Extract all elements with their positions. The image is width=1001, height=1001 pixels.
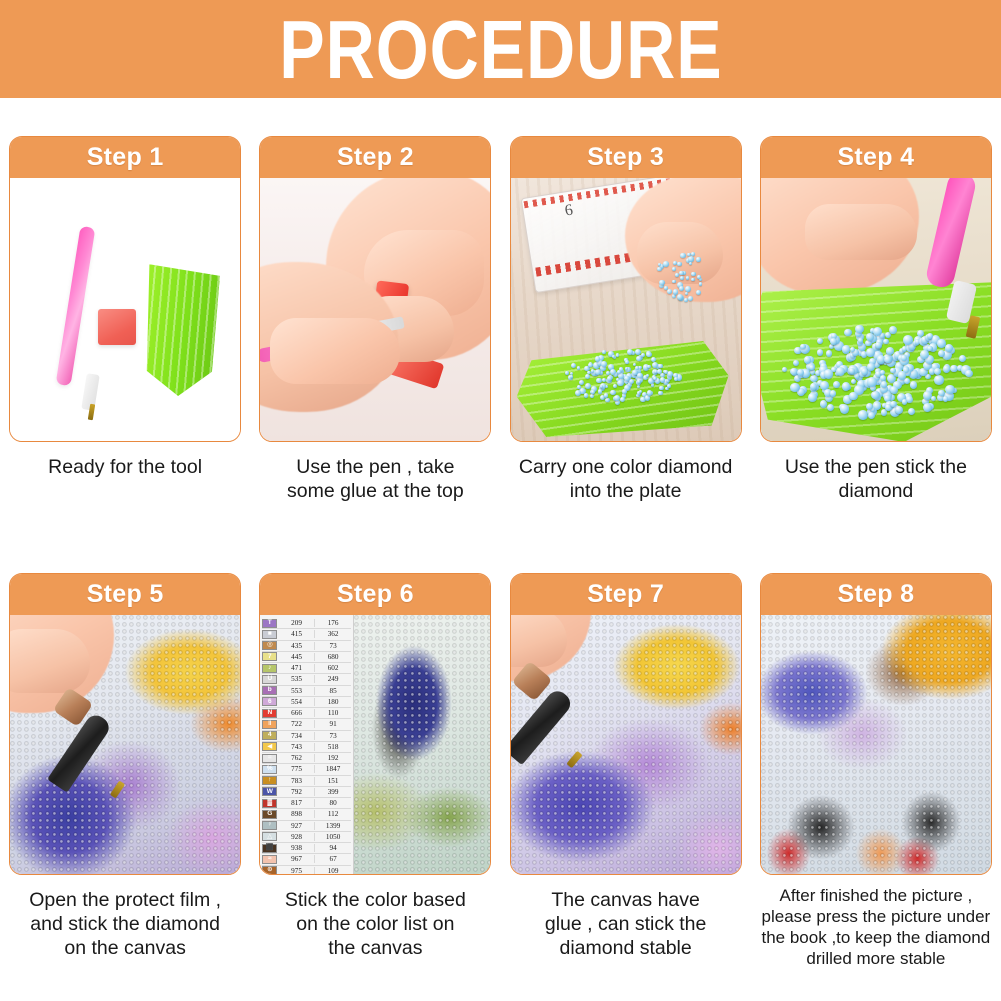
blue-diamond: [658, 364, 663, 369]
color-count: 91: [315, 720, 352, 728]
color-count: 180: [315, 698, 352, 706]
step-6-image: T209176■415362◎435737445680♪471602U53524…: [260, 615, 490, 874]
blue-diamond: [866, 403, 873, 410]
color-code: 967: [279, 855, 315, 863]
color-swatch-symbol: ♪: [262, 664, 277, 673]
color-swatch-symbol: N: [262, 709, 277, 718]
color-count: 151: [315, 777, 352, 785]
color-count: 518: [315, 743, 352, 751]
blue-diamond: [686, 276, 689, 279]
caption-line: The canvas have: [507, 888, 745, 912]
step-2-header: Step 2: [260, 137, 490, 178]
color-list-row: △9281050: [262, 832, 351, 843]
caption-line: please press the picture under: [753, 906, 999, 927]
color-code: 938: [279, 844, 315, 852]
caption-line: drilled more stable: [753, 948, 999, 969]
color-list-row: ■415362: [262, 629, 351, 640]
blue-diamond: [804, 356, 811, 363]
color-list-row: ≈96767: [262, 854, 351, 865]
step-card-8: Step 8 After finished the picture , plea…: [751, 573, 1001, 969]
caption-line: some glue at the top: [256, 479, 494, 503]
step-2-image: [260, 178, 490, 441]
color-count: 85: [315, 687, 352, 695]
step-7-header-label: Step 7: [587, 580, 664, 609]
color-swatch-symbol: 4: [262, 731, 277, 740]
caption-line: Stick the color based: [256, 888, 494, 912]
fingers: [10, 629, 90, 693]
blue-diamond: [840, 404, 850, 414]
blue-diamond: [844, 329, 852, 337]
color-swatch-symbol: 6: [262, 697, 277, 706]
step-8-caption: After finished the picture , please pres…: [753, 885, 999, 969]
color-code: 734: [279, 732, 315, 740]
color-code: 535: [279, 675, 315, 683]
color-code: 554: [279, 698, 315, 706]
step-4-card: Step 4: [760, 136, 992, 442]
caption-line: on the color list on: [256, 912, 494, 936]
step-3-card: Step 3 6: [510, 136, 742, 442]
blue-diamond: [849, 368, 855, 374]
page-banner: PROCEDURE: [0, 0, 1001, 98]
color-count: 1050: [315, 833, 352, 841]
blue-diamond: [934, 375, 944, 385]
blue-diamond: [849, 392, 858, 401]
color-swatch-symbol: △: [262, 832, 277, 841]
color-swatch-symbol: %: [262, 765, 277, 774]
caption-line: Use the pen stick the: [757, 455, 995, 479]
caption-line: the canvas: [256, 936, 494, 960]
blue-diamond: [817, 349, 824, 356]
color-code: 743: [279, 743, 315, 751]
step-card-7: Step 7 The canvas have glue , can stick …: [501, 573, 751, 969]
glue-square-icon: [98, 309, 136, 345]
color-code: 928: [279, 833, 315, 841]
step-5-image: [10, 615, 240, 874]
caption-line: the book ,to keep the diamond: [753, 927, 999, 948]
step-2-caption: Use the pen , take some glue at the top: [256, 455, 494, 503]
pen-picks-diamond-illustration: [761, 178, 991, 441]
color-count: 680: [315, 653, 352, 661]
fingers: [511, 615, 567, 667]
color-count: 399: [315, 788, 352, 796]
step-6-header: Step 6: [260, 574, 490, 615]
caption-line: Open the protect film ,: [6, 888, 244, 912]
steps-row-2: Step 5 Open the protect film , and stick…: [0, 573, 1001, 969]
color-list-row: W792399: [262, 787, 351, 798]
color-list-row: 7445680: [262, 652, 351, 663]
left-finger: [270, 318, 400, 384]
color-swatch-symbol: T: [262, 619, 277, 628]
blue-diamond: [883, 339, 889, 345]
glued-canvas-illustration: [511, 615, 741, 874]
blue-diamond: [677, 262, 681, 266]
blue-diamond: [824, 369, 834, 379]
color-swatch-symbol: ■: [262, 630, 277, 639]
color-swatch-symbol: ⊙: [262, 866, 277, 874]
blue-diamond: [598, 389, 603, 394]
blue-diamond: [696, 257, 700, 261]
color-list-row: %7751847: [262, 764, 351, 775]
step-5-caption: Open the protect film , and stick the di…: [6, 888, 244, 960]
blue-diamond: [836, 367, 845, 376]
step-6-header-label: Step 6: [337, 580, 414, 609]
blue-diamond: [866, 333, 874, 341]
color-code: 775: [279, 765, 315, 773]
blue-diamond: [871, 391, 880, 400]
color-count: 1399: [315, 822, 352, 830]
blue-diamond: [793, 360, 799, 366]
blue-diamond: [605, 398, 609, 402]
blue-diamond: [833, 381, 840, 388]
step-card-2: Step 2: [250, 136, 500, 503]
blue-diamond: [945, 344, 953, 352]
color-list-row: ♪471602: [262, 663, 351, 674]
color-list-row: ♀9271399: [262, 821, 351, 832]
color-list-row: U535249: [262, 674, 351, 685]
blue-diamond: [639, 390, 642, 393]
step-card-3: Step 3 6: [501, 136, 751, 503]
color-list-table: T209176■415362◎435737445680♪471602U53524…: [260, 615, 354, 874]
step-3-caption: Carry one color diamond into the plate: [507, 455, 745, 503]
color-count: 67: [315, 855, 352, 863]
color-count: 249: [315, 675, 352, 683]
diamond-canvas: [761, 615, 991, 874]
color-swatch-symbol: ⬛: [262, 844, 277, 853]
blue-diamond: [601, 361, 607, 367]
blue-diamond: [842, 382, 850, 390]
color-swatch-symbol: ♀: [262, 821, 277, 830]
color-count: 80: [315, 799, 352, 807]
blue-diamond: [622, 389, 626, 393]
blue-diamond: [604, 393, 609, 398]
step-5-header-label: Step 5: [87, 580, 164, 609]
blue-diamond: [830, 390, 837, 397]
step-3-header: Step 3: [511, 137, 741, 178]
step-8-header-label: Step 8: [837, 580, 914, 609]
blue-diamond: [647, 365, 650, 368]
color-count: 73: [315, 732, 352, 740]
blue-diamond: [591, 369, 595, 373]
blue-diamond: [657, 267, 661, 271]
step-2-header-label: Step 2: [337, 143, 414, 172]
color-code: 666: [279, 709, 315, 717]
caption-line: into the plate: [507, 479, 745, 503]
steps-row-1: Step 1 Ready for the tool: [0, 136, 1001, 503]
blue-diamond: [867, 363, 875, 371]
step-card-4: Step 4: [751, 136, 1001, 503]
caption-line: Carry one color diamond: [507, 455, 745, 479]
color-count: 73: [315, 642, 352, 650]
color-code: 975: [279, 867, 315, 874]
step-1-header: Step 1: [10, 137, 240, 178]
blue-diamond: [620, 397, 625, 402]
color-code: 898: [279, 810, 315, 818]
color-code: 435: [279, 642, 315, 650]
step-3-image: 6: [511, 178, 741, 441]
blue-diamond: [689, 262, 692, 265]
color-count: 94: [315, 844, 352, 852]
color-swatch-symbol: ‖: [262, 720, 277, 729]
color-code: 817: [279, 799, 315, 807]
blue-diamond: [677, 294, 683, 300]
blue-diamond: [645, 395, 651, 401]
color-list-row: N666110: [262, 708, 351, 719]
color-swatch-symbol: W: [262, 787, 277, 796]
step-3-header-label: Step 3: [587, 143, 664, 172]
color-code: 762: [279, 754, 315, 762]
blue-diamond: [680, 253, 686, 259]
color-list-row: T209176: [262, 618, 351, 629]
blue-diamond: [652, 362, 658, 368]
color-code: 415: [279, 630, 315, 638]
color-list-row: 473473: [262, 731, 351, 742]
color-swatch-symbol: ◀: [262, 742, 277, 751]
color-code: 792: [279, 788, 315, 796]
color-code: 722: [279, 720, 315, 728]
blue-diamond: [641, 353, 645, 357]
step-1-card: Step 1: [9, 136, 241, 442]
color-swatch-symbol: =: [262, 754, 277, 763]
color-count: 192: [315, 754, 352, 762]
color-list-row: =762192: [262, 753, 351, 764]
step-4-header: Step 4: [761, 137, 991, 178]
diamond-canvas: [354, 615, 490, 874]
blue-diamond: [627, 349, 633, 355]
color-count: 110: [315, 709, 352, 717]
blue-diamond: [696, 290, 701, 295]
step-6-card: Step 6 T209176■415362◎435737445680♪47160…: [259, 573, 491, 875]
step-7-image: [511, 615, 741, 874]
blue-diamond: [602, 378, 606, 382]
blue-diamond: [602, 350, 606, 354]
pour-diamonds-illustration: 6: [511, 178, 741, 441]
color-list-row: ↑783151: [262, 776, 351, 787]
step-5-header: Step 5: [10, 574, 240, 615]
color-swatch-symbol: G: [262, 810, 277, 819]
step-4-header-label: Step 4: [837, 143, 914, 172]
color-code: 445: [279, 653, 315, 661]
pink-pen-icon: [56, 226, 96, 386]
color-swatch-symbol: ◎: [262, 641, 277, 650]
step-7-header: Step 7: [511, 574, 741, 615]
color-swatch-symbol: ▓: [262, 799, 277, 808]
blue-diamond: [625, 360, 629, 364]
step-7-caption: The canvas have glue , can stick the dia…: [507, 888, 745, 960]
caption-line: Ready for the tool: [6, 455, 244, 479]
step-1-image: [10, 178, 240, 441]
step-7-card: Step 7: [510, 573, 742, 875]
color-swatch-symbol: U: [262, 675, 277, 684]
blue-diamond: [657, 369, 662, 374]
step-card-5: Step 5 Open the protect film , and stick…: [0, 573, 250, 969]
blue-diamond: [637, 380, 641, 384]
color-list-row: ◎43573: [262, 641, 351, 652]
color-count: 112: [315, 810, 352, 818]
sticking-diamond-illustration: [10, 615, 240, 874]
step-card-6: Step 6 T209176■415362◎435737445680♪47160…: [250, 573, 500, 969]
blue-diamond: [697, 275, 701, 279]
blue-diamond: [672, 280, 675, 283]
color-code: 783: [279, 777, 315, 785]
color-list-row: ⬛93894: [262, 843, 351, 854]
color-swatch-symbol: 7: [262, 652, 277, 661]
blue-diamond: [588, 363, 592, 367]
step-4-image: [761, 178, 991, 441]
color-count: 176: [315, 619, 352, 627]
tray-grooves: [140, 264, 221, 398]
caption-line: on the canvas: [6, 936, 244, 960]
color-list-row: G898112: [262, 809, 351, 820]
step-6-caption: Stick the color based on the color list …: [256, 888, 494, 960]
canvas-area: [354, 615, 490, 874]
color-count: 602: [315, 664, 352, 672]
color-code: 471: [279, 664, 315, 672]
page-title: PROCEDURE: [279, 1, 722, 96]
step-5-card: Step 5: [9, 573, 241, 875]
procedure-infographic: PROCEDURE Step 1: [0, 0, 1001, 1001]
blue-diamond: [625, 367, 628, 370]
blue-diamond: [943, 396, 948, 401]
finished-painting-illustration: [761, 615, 991, 874]
color-code: 927: [279, 822, 315, 830]
step-1-caption: Ready for the tool: [6, 455, 244, 479]
color-code: 553: [279, 687, 315, 695]
blue-diamond: [901, 355, 907, 361]
blue-diamond: [884, 356, 891, 363]
step-card-1: Step 1 Ready for the tool: [0, 136, 250, 503]
step-8-image: [761, 615, 991, 874]
blue-diamond: [875, 342, 881, 348]
color-list-illustration: T209176■415362◎435737445680♪471602U53524…: [260, 615, 490, 874]
color-list-row: 6554180: [262, 697, 351, 708]
color-count: 1847: [315, 765, 352, 773]
color-list-row: b55385: [262, 686, 351, 697]
color-swatch-symbol: ≈: [262, 855, 277, 864]
color-swatch-symbol: b: [262, 686, 277, 695]
tool-set-illustration: [10, 178, 240, 441]
color-list-row: ⊙975109: [262, 866, 351, 875]
color-count: 362: [315, 630, 352, 638]
color-list-row: ◀743518: [262, 742, 351, 753]
blue-diamond: [965, 370, 973, 378]
step-8-header: Step 8: [761, 574, 991, 615]
color-swatch-symbol: ↑: [262, 776, 277, 785]
blue-diamond: [866, 348, 875, 357]
blue-diamond: [663, 261, 669, 267]
blue-diamond: [890, 401, 896, 407]
step-8-card: Step 8: [760, 573, 992, 875]
blue-diamond: [817, 338, 823, 344]
fingers: [805, 204, 917, 260]
color-list-row: ▓81780: [262, 798, 351, 809]
caption-line: diamond stable: [507, 936, 745, 960]
blue-diamond: [688, 296, 693, 301]
caption-line: glue , can stick the: [507, 912, 745, 936]
caption-line: diamond: [757, 479, 995, 503]
color-code: 209: [279, 619, 315, 627]
caption-line: and stick the diamond: [6, 912, 244, 936]
caption-line: Use the pen , take: [256, 455, 494, 479]
color-count: 109: [315, 867, 352, 874]
step-2-card: Step 2: [259, 136, 491, 442]
caption-line: After finished the picture ,: [753, 885, 999, 906]
blue-diamond: [617, 380, 623, 386]
blue-diamond: [685, 292, 688, 295]
blue-diamond: [790, 383, 800, 393]
blue-diamond: [800, 344, 806, 350]
pen-nib-icon: [88, 404, 95, 421]
hands-with-glue-illustration: [260, 178, 490, 441]
blue-diamond: [667, 384, 671, 388]
blue-diamond: [673, 261, 677, 265]
blue-diamond: [903, 335, 913, 345]
green-tray-icon: [140, 264, 221, 398]
step-1-header-label: Step 1: [87, 143, 164, 172]
color-list-row: ‖72291: [262, 719, 351, 730]
blue-diamond: [691, 272, 696, 277]
step-4-caption: Use the pen stick the diamond: [757, 455, 995, 503]
blue-diamond: [938, 350, 945, 357]
